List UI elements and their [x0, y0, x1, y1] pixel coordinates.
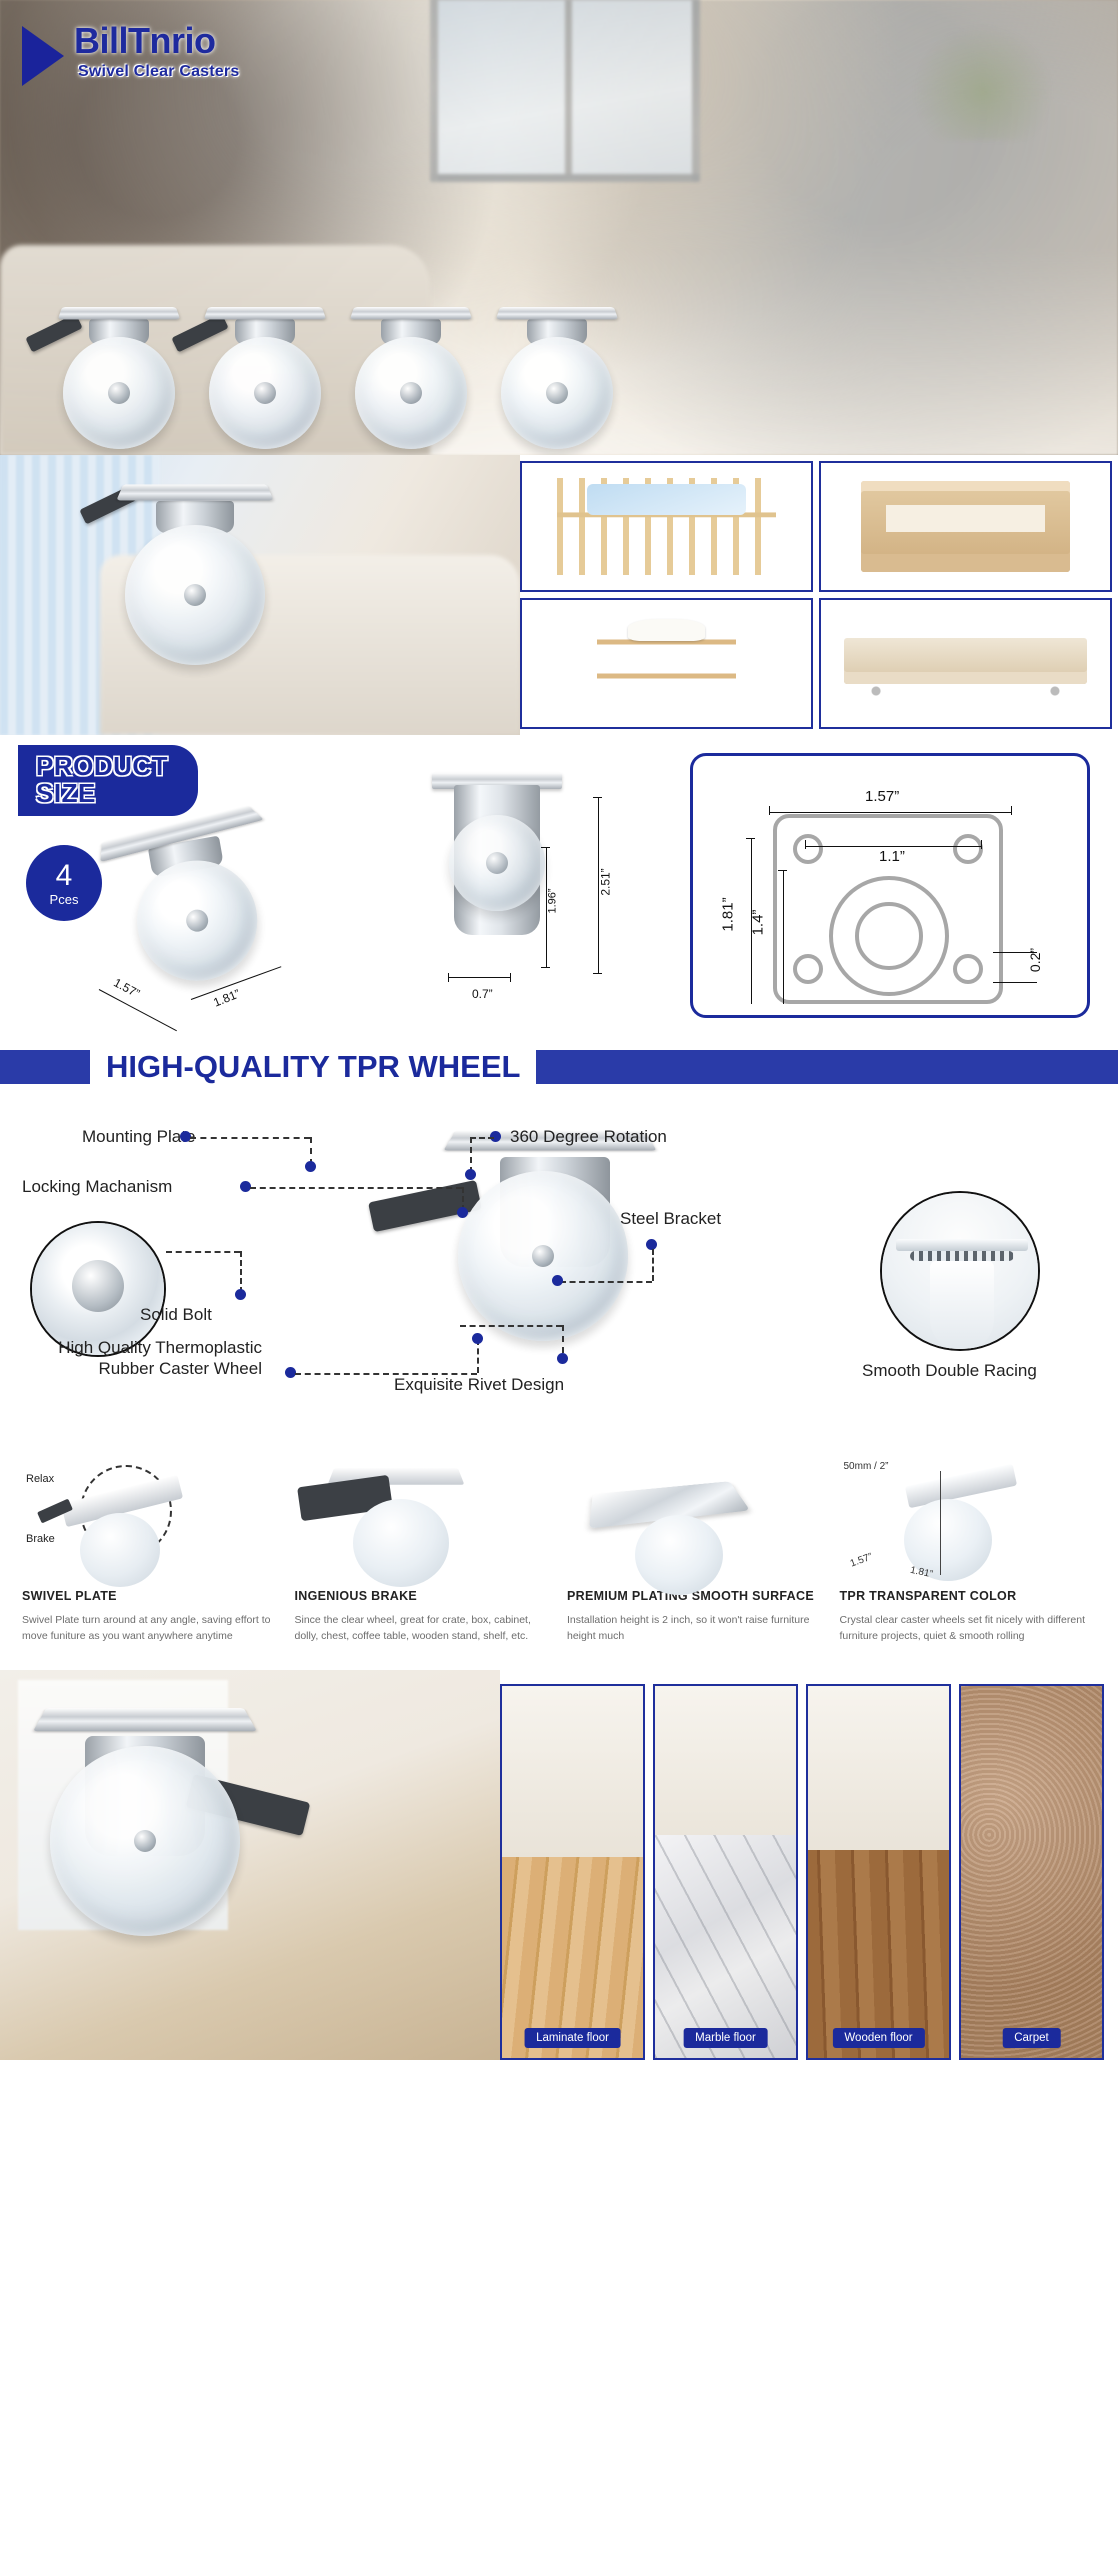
floor-card-marble: Marble floor: [653, 1684, 798, 2060]
bracket-body: [930, 1261, 994, 1351]
feature-label-brake: Brake: [26, 1533, 55, 1545]
caster-product-3: [352, 303, 470, 449]
feature-body: Since the clear wheel, great for crate, …: [295, 1612, 552, 1645]
caster-product-2: [206, 303, 324, 449]
caster-isometric-image: [100, 800, 287, 993]
plate-edge: [896, 1239, 1028, 1251]
callout-dot: [552, 1275, 563, 1286]
dimension-total-height: 2.51”: [599, 868, 613, 895]
hero-caster-row: [60, 149, 1070, 449]
callout-line: [240, 1251, 242, 1293]
mounting-plate: [350, 307, 472, 319]
diagram-plate-top-view: 1.57” 1.1” 1.81” 1.4” 0.2”: [690, 753, 1090, 1018]
brand-name: BillTnrio: [74, 22, 239, 60]
table-illustration: [844, 638, 1087, 684]
feature-dim-height: 50mm / 2”: [844, 1461, 889, 1472]
feature-image-brake: [295, 1459, 552, 1589]
callout-line: [562, 1325, 564, 1353]
dimension-line: [940, 1471, 941, 1575]
callout-rivet-label: Exquisite Rivet Design: [394, 1375, 564, 1395]
quantity-number: 4: [56, 861, 73, 891]
mounting-plate: [33, 1708, 257, 1731]
diagram-isometric: 1.57” 1.81”: [95, 813, 305, 1003]
dimension-line: [783, 870, 784, 1004]
product-size-section: PRODUCT SIZE 4 Pces 1.57” 1.81”: [0, 735, 1118, 1035]
callout-line: [460, 1325, 562, 1327]
mounting-plate: [496, 307, 618, 319]
dimension-tick: [778, 870, 787, 871]
callout-steel-bracket-label: Steel Bracket: [620, 1209, 721, 1229]
dimension-plate-thickness: 0.2”: [1027, 948, 1043, 972]
feature-body: Crystal clear caster wheels set fit nice…: [840, 1612, 1097, 1645]
lifestyle-photo: [0, 455, 520, 735]
callout-wheel-line2: Rubber Caster Wheel: [99, 1359, 262, 1378]
dimension-tick: [448, 973, 449, 982]
carpet-floor-texture: [961, 1686, 1102, 2058]
quantity-badge: 4 Pces: [26, 845, 102, 921]
dimension-line: [448, 977, 510, 978]
mounting-plate: [58, 307, 180, 319]
callout-line: [166, 1251, 240, 1253]
tpr-callout-diagram: Mounting Plate 360 Degree Rotation Locki…: [0, 1099, 1118, 1449]
feature-image-swivel: Relax Brake: [22, 1459, 279, 1589]
clear-wheel: [125, 525, 265, 665]
feature-title: INGENIOUS BRAKE: [295, 1589, 552, 1605]
callout-line: [652, 1249, 654, 1281]
application-coffee-table: [819, 598, 1112, 729]
floor-label-carpet: Carpet: [1002, 2028, 1061, 2048]
room-upper-decor: [502, 1686, 643, 1857]
room-upper-decor: [655, 1686, 796, 1857]
clear-wheel: [128, 851, 267, 990]
callout-line: [470, 1137, 472, 1173]
callout-dot: [457, 1207, 468, 1218]
caster-product-4: [498, 303, 616, 449]
cabinet-illustration: [861, 481, 1069, 572]
feature-dim-w1: 1.57”: [848, 1551, 873, 1569]
callout-line: [477, 1339, 479, 1373]
banner-bar-right: [536, 1050, 1118, 1084]
bolt-hole: [953, 954, 983, 984]
application-crib: [520, 461, 813, 592]
feature-body: Swivel Plate turn around at any angle, s…: [22, 1612, 279, 1645]
feature-card-swivel-plate: Relax Brake SWIVEL PLATE Swivel Plate tu…: [22, 1459, 279, 1644]
dimension-tick: [541, 967, 550, 968]
callout-line: [560, 1281, 652, 1283]
floor-card-carpet: Carpet: [959, 1684, 1104, 2060]
bolt-hole: [793, 834, 823, 864]
tpr-heading: HIGH-QUALITY TPR WHEEL: [90, 1049, 536, 1085]
clear-wheel: [63, 337, 175, 449]
bolt-head: [72, 1260, 124, 1312]
callout-line: [470, 1137, 494, 1139]
dimension-tick: [746, 838, 755, 839]
feature-body: Installation height is 2 inch, so it won…: [567, 1612, 824, 1645]
marble-floor-texture: [655, 1835, 796, 2058]
callout-locking-label: Locking Machanism: [22, 1177, 172, 1197]
feature-card-tpr-color: 50mm / 2” 1.57” 1.81” TPR TRANSPARENT CO…: [840, 1459, 1097, 1644]
dimension-tick: [593, 973, 602, 974]
dimension-bolt-spacing-length: 1.4”: [749, 910, 766, 936]
hero-banner: BillTnrio Swivel Clear Casters: [0, 0, 1118, 455]
callout-solid-bolt-label: Solid Bolt: [140, 1305, 212, 1325]
callout-wheel-line1: High Quality Thermoplastic: [58, 1338, 262, 1357]
clear-wheel: [209, 337, 321, 449]
callout-dot: [235, 1289, 246, 1300]
dimension-tick: [805, 840, 806, 849]
feature-image-plating: [567, 1459, 824, 1589]
feature-card-premium-plating: PREMIUM PLATING SMOOTH SURFACE Installat…: [567, 1459, 824, 1644]
product-size-banner: PRODUCT SIZE: [18, 745, 198, 816]
banner-bar-left: [0, 1050, 90, 1084]
feature-title: SWIVEL PLATE: [22, 1589, 279, 1605]
application-thumbnails: [520, 455, 1118, 735]
product-size-line2: SIZE: [36, 780, 168, 807]
tpr-section-banner: HIGH-QUALITY TPR WHEEL: [0, 1035, 1118, 1099]
mounting-plate: [116, 484, 273, 500]
callout-dot: [305, 1161, 316, 1172]
dimension-line: [769, 812, 1011, 813]
callout-mounting-plate-label: Mounting Plate: [82, 1127, 195, 1147]
clear-wheel: [635, 1515, 723, 1595]
floor-label-laminate: Laminate floor: [524, 2028, 621, 2048]
center-ring-inner: [855, 902, 923, 970]
dimension-tick: [981, 840, 982, 849]
feature-title: TPR TRANSPARENT COLOR: [840, 1589, 1097, 1605]
floor-lifestyle-photo: [0, 1670, 500, 2060]
double-racing-zoom-circle: [880, 1191, 1040, 1351]
dimension-line: [805, 846, 981, 847]
callout-dot: [465, 1169, 476, 1180]
wooden-floor-texture: [808, 1850, 949, 2058]
application-cabinet: [819, 461, 1112, 592]
application-shelf: [520, 598, 813, 729]
caster-closeup: [120, 479, 270, 665]
floor-type-cards: Laminate floor Marble floor Wooden floor…: [500, 1670, 1118, 2060]
hero-plant-decor: [908, 20, 1058, 140]
brand-logo: BillTnrio Swivel Clear Casters: [22, 22, 239, 86]
clear-wheel: [449, 815, 545, 911]
clear-wheel: [355, 337, 467, 449]
shelf-illustration: [597, 613, 736, 715]
product-size-line1: PRODUCT: [36, 753, 168, 780]
bolt-hole: [953, 834, 983, 864]
dimension-tick: [541, 847, 550, 848]
dimension-tick: [1011, 806, 1012, 815]
feature-card-ingenious-brake: INGENIOUS BRAKE Since the clear wheel, g…: [295, 1459, 552, 1644]
caster-front-image: [432, 773, 562, 911]
callout-wheel-material-label: High Quality Thermoplastic Rubber Caster…: [12, 1337, 262, 1380]
bolt-hole: [793, 954, 823, 984]
clear-wheel: [458, 1171, 628, 1341]
callout-line: [190, 1137, 310, 1139]
callout-rotation-label: 360 Degree Rotation: [510, 1127, 667, 1147]
callout-dot: [557, 1353, 568, 1364]
quantity-unit: Pces: [50, 893, 79, 906]
caster-large-image: [40, 1696, 250, 1936]
callout-line: [250, 1187, 462, 1189]
arrow-icon: [22, 26, 64, 86]
floor-compatibility-section: Laminate floor Marble floor Wooden floor…: [0, 1670, 1118, 2060]
dimension-plate-length-top: 1.81”: [720, 897, 737, 931]
room-upper-decor: [808, 1686, 949, 1857]
dimension-tick: [769, 806, 770, 815]
floor-card-wooden: Wooden floor: [806, 1684, 951, 2060]
mounting-plate: [204, 307, 326, 319]
dimension-line: [993, 982, 1037, 983]
dimension-tick: [593, 797, 602, 798]
floor-label-marble: Marble floor: [683, 2028, 768, 2048]
feature-cards: Relax Brake SWIVEL PLATE Swivel Plate tu…: [0, 1449, 1118, 1670]
dimension-tick: [510, 973, 511, 982]
dimension-wheel-diameter: 1.96”: [547, 888, 559, 913]
clear-wheel: [501, 337, 613, 449]
floor-label-wooden: Wooden floor: [832, 2028, 924, 2048]
clear-wheel: [353, 1499, 449, 1587]
ball-bearing-race: [910, 1251, 1014, 1261]
caster-product-1: [60, 303, 178, 449]
clear-wheel: [80, 1513, 160, 1587]
dimension-wheel-width: 0.7”: [472, 987, 493, 1001]
crib-illustration: [557, 478, 777, 575]
brand-subtitle: Swivel Clear Casters: [78, 63, 239, 81]
callout-dot: [472, 1333, 483, 1344]
feature-label-relax: Relax: [26, 1473, 54, 1485]
dimension-plate-width-top: 1.57”: [865, 788, 899, 805]
application-gallery: [0, 455, 1118, 735]
product-infographic-page: BillTnrio Swivel Clear Casters: [0, 0, 1118, 2060]
dimension-bolt-spacing-width: 1.1”: [879, 848, 905, 865]
diagram-front-view: 2.51” 1.96” 0.7”: [380, 755, 630, 1015]
clear-wheel: [50, 1746, 240, 1936]
floor-card-laminate: Laminate floor: [500, 1684, 645, 2060]
callout-racing-label: Smooth Double Racing: [862, 1361, 1037, 1381]
plate-outline: [773, 814, 1003, 1004]
feature-image-tpr: 50mm / 2” 1.57” 1.81”: [840, 1459, 1097, 1589]
